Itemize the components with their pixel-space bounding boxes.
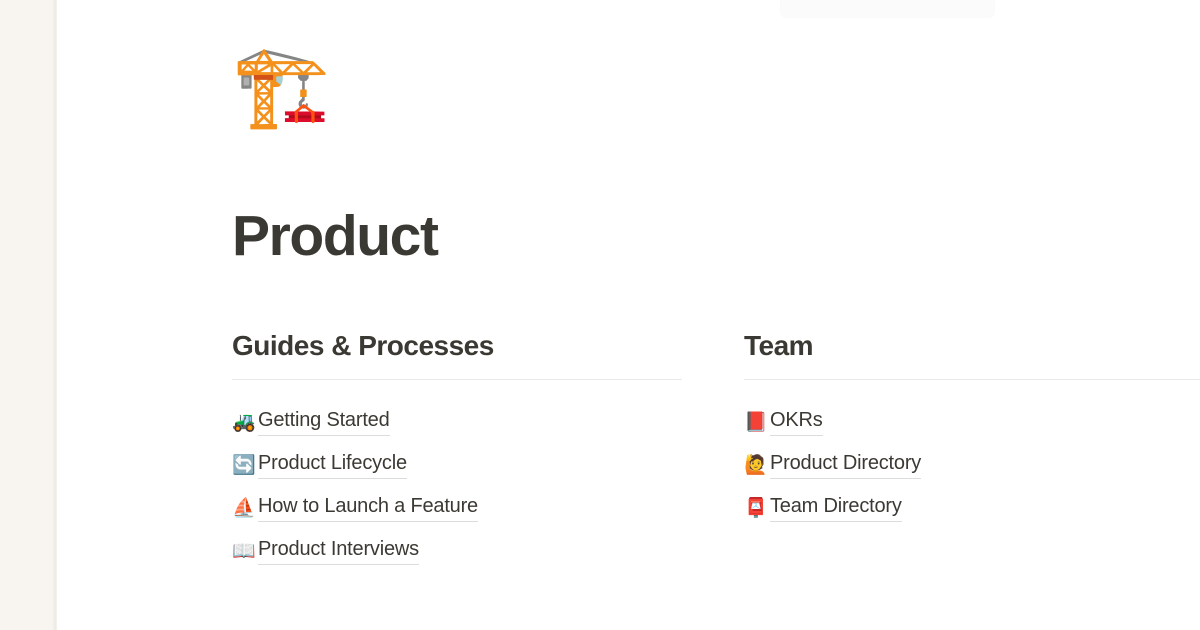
tractor-icon: 🚜 xyxy=(232,413,258,432)
construction-crane-icon: 🏗️ xyxy=(232,47,330,126)
page-canvas: 🏗️ Product Guides & Processes 🚜 Getting … xyxy=(58,0,1200,630)
closed-book-icon: 📕 xyxy=(744,413,770,432)
sidebar[interactable] xyxy=(0,0,57,630)
list-item[interactable]: 🙋 Product Directory xyxy=(744,444,1200,487)
section-heading-team: Team xyxy=(744,328,1200,363)
link-okrs[interactable]: OKRs xyxy=(770,409,823,436)
section-columns: Guides & Processes 🚜 Getting Started 🔄 P… xyxy=(232,328,1200,573)
open-book-icon: 📖 xyxy=(232,542,258,561)
section-heading-guides-processes: Guides & Processes xyxy=(232,328,682,363)
person-raising-hand-icon: 🙋 xyxy=(744,456,770,475)
section-guides-processes: Guides & Processes 🚜 Getting Started 🔄 P… xyxy=(232,328,682,573)
page-title: Product xyxy=(232,205,438,268)
link-list-team: 📕 OKRs 🙋 Product Directory 📮 Team Direct… xyxy=(744,380,1200,530)
list-item[interactable]: 🔄 Product Lifecycle xyxy=(232,444,682,487)
list-item[interactable]: ⛵ How to Launch a Feature xyxy=(232,487,682,530)
link-team-directory[interactable]: Team Directory xyxy=(770,495,902,522)
link-list-guides-processes: 🚜 Getting Started 🔄 Product Lifecycle ⛵ … xyxy=(232,380,682,573)
list-item[interactable]: 📮 Team Directory xyxy=(744,487,1200,530)
list-item[interactable]: 📖 Product Interviews xyxy=(232,530,682,573)
list-item[interactable]: 📕 OKRs xyxy=(744,401,1200,444)
list-item[interactable]: 🚜 Getting Started xyxy=(232,401,682,444)
section-team: Team 📕 OKRs 🙋 Product Directory 📮 Team D… xyxy=(744,328,1200,573)
counterclockwise-arrows-button-icon: 🔄 xyxy=(232,456,258,475)
postbox-icon: 📮 xyxy=(744,499,770,518)
sailboat-icon: ⛵ xyxy=(232,499,258,518)
link-getting-started[interactable]: Getting Started xyxy=(258,409,390,436)
link-product-interviews[interactable]: Product Interviews xyxy=(258,538,419,565)
link-product-directory[interactable]: Product Directory xyxy=(770,452,921,479)
link-product-lifecycle[interactable]: Product Lifecycle xyxy=(258,452,407,479)
link-how-to-launch-a-feature[interactable]: How to Launch a Feature xyxy=(258,495,478,522)
top-banner-chip[interactable] xyxy=(780,0,995,18)
